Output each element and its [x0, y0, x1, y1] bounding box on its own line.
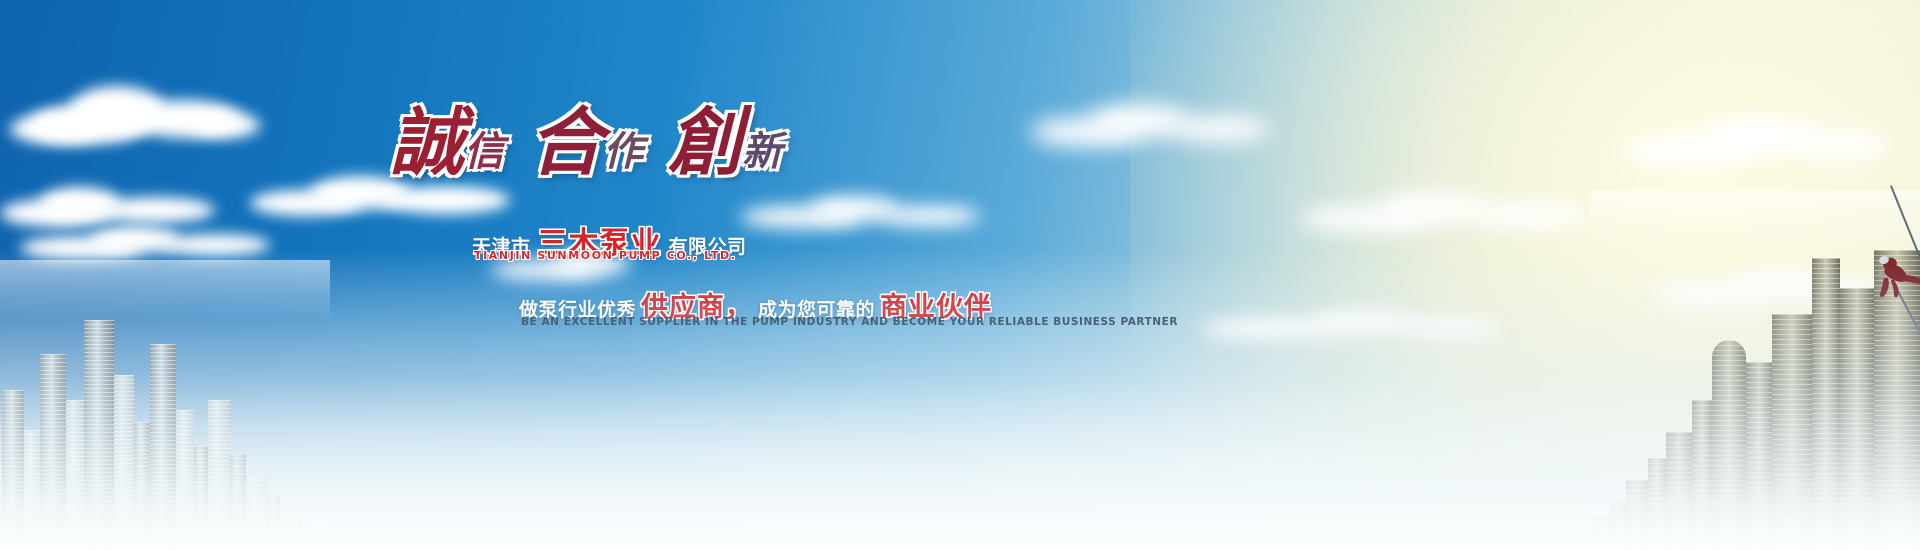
calligraphy-char-3: 合	[529, 108, 601, 178]
bottom-haze	[0, 250, 1920, 550]
calligraphy-char-5: 創	[668, 108, 740, 178]
calligraphy-char-6: 新	[740, 133, 785, 178]
hero-banner: 誠 信 合 作 創 新 天津市 三木泵业 有限公司 TIANJIN SUNMOO…	[0, 0, 1920, 550]
calligraphy-char-2: 信	[462, 133, 507, 178]
calligraphy-char-4: 作	[601, 133, 646, 178]
calligraphy-headline: 誠 信 合 作 創 新	[390, 108, 810, 178]
calligraphy-char-1: 誠	[390, 108, 462, 178]
